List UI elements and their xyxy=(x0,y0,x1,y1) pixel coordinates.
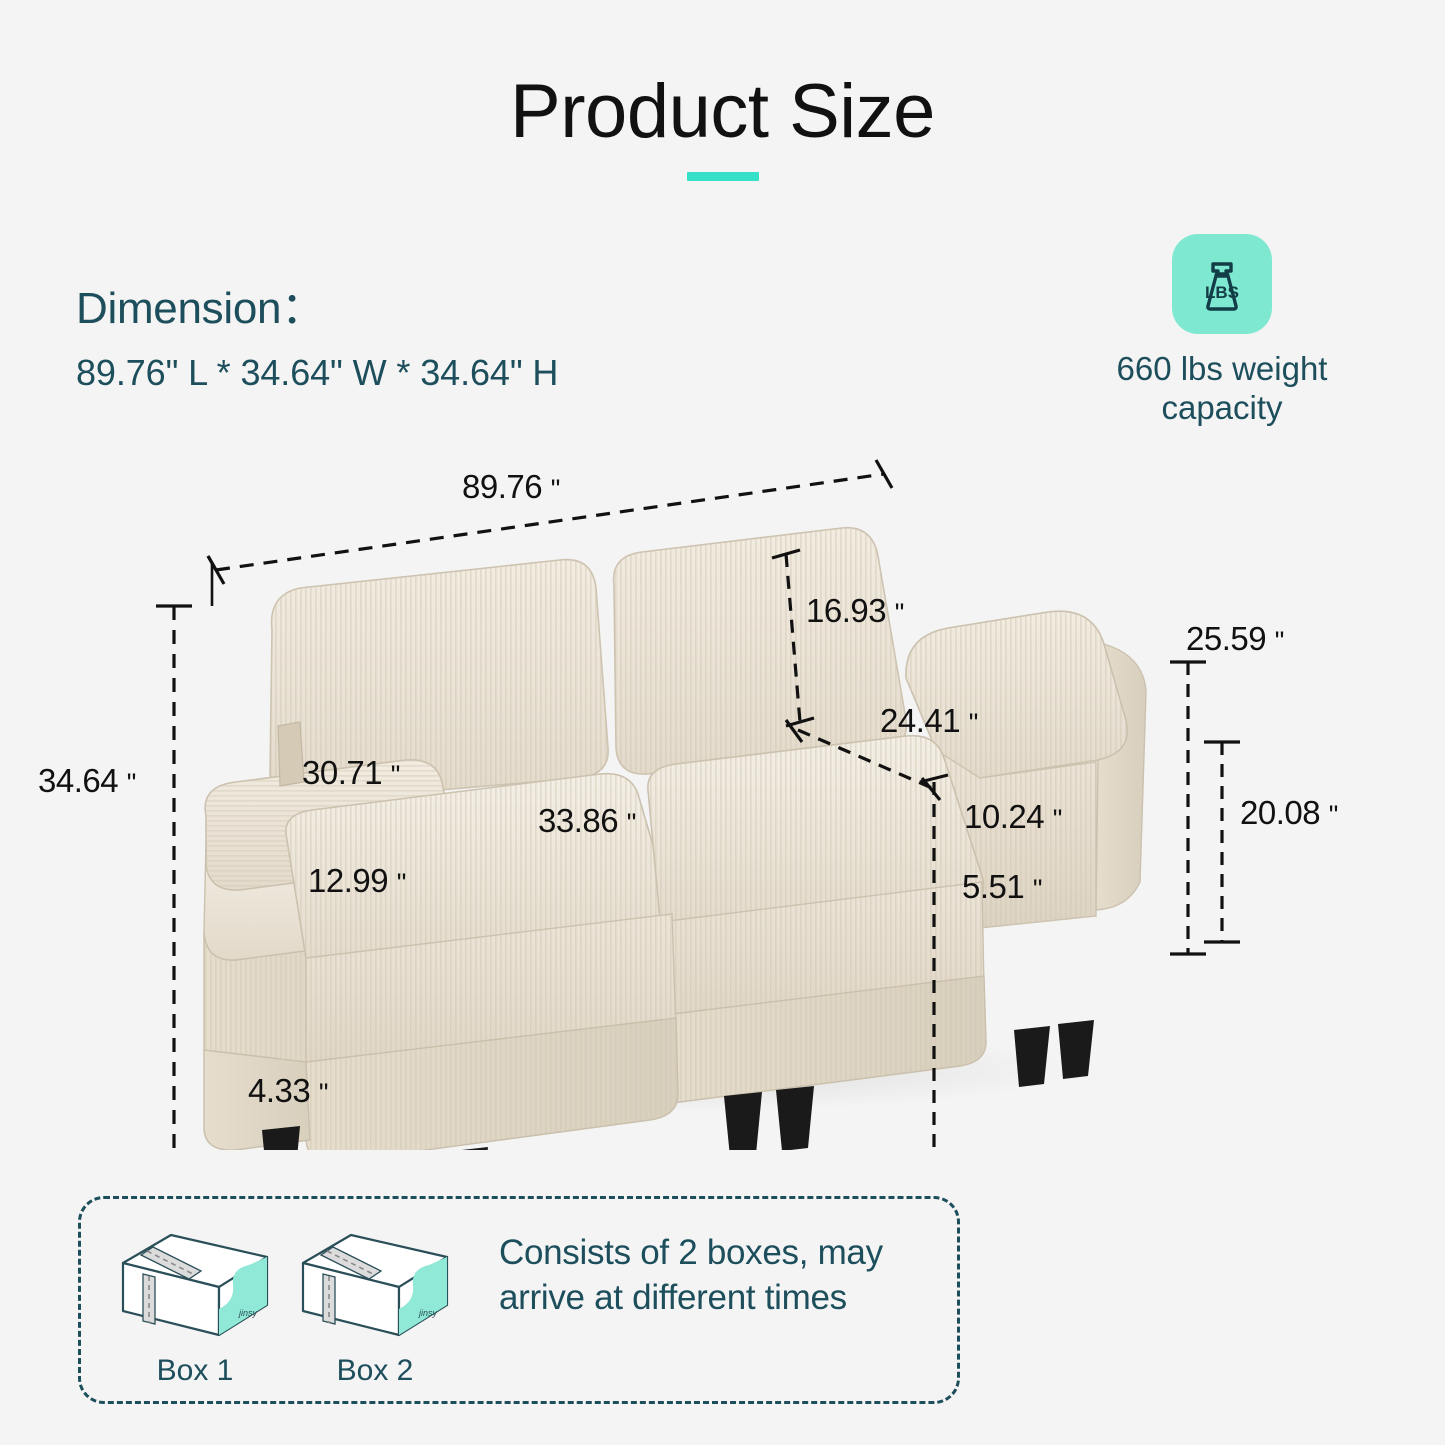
product-size-infographic: Product Size Dimension： 89.76" L * 34.64… xyxy=(0,0,1445,1445)
sofa-drawing xyxy=(0,430,1445,1150)
label-seat-width: 33.86 " xyxy=(538,802,636,840)
label-arm-width: 12.99 " xyxy=(308,862,406,900)
weight-line-1: 660 lbs weight xyxy=(1062,350,1382,389)
box-1-brand: jinsy xyxy=(238,1308,258,1318)
box-2-label: Box 2 xyxy=(289,1354,461,1388)
label-seat-depth: 24.41 " xyxy=(880,702,978,740)
label-leg-height: 4.33 " xyxy=(248,1072,328,1110)
box-item-2: jinsy Box 2 xyxy=(289,1223,461,1388)
back-cushion-right xyxy=(614,528,907,774)
dimension-heading: Dimension： xyxy=(76,272,325,336)
label-overall-height: 34.64 " xyxy=(38,762,136,800)
weight-lbs-icon: LBS xyxy=(1172,234,1272,334)
label-arm-height-outer: 25.59 " xyxy=(1186,620,1284,658)
dimension-value: 89.76" L * 34.64" W * 34.64" H xyxy=(76,352,558,394)
weight-capacity-block: LBS 660 lbs weight capacity xyxy=(1062,234,1382,427)
leg-right-b xyxy=(1058,1020,1094,1079)
label-overall-length: 89.76 " xyxy=(462,468,560,506)
box-2-brand: jinsy xyxy=(418,1308,438,1318)
back-flap xyxy=(278,722,304,786)
leg-left-front xyxy=(444,1147,488,1150)
dimline-arm-height-outer xyxy=(1170,662,1206,954)
box-1-label: Box 1 xyxy=(109,1354,281,1388)
weight-icon-text: LBS xyxy=(1205,283,1239,302)
title-accent-bar xyxy=(687,172,759,181)
box-1-icon: jinsy xyxy=(109,1223,281,1343)
leg-right-a xyxy=(1014,1026,1050,1087)
box-2-icon: jinsy xyxy=(289,1223,461,1343)
weight-line-2: capacity xyxy=(1062,389,1382,428)
label-cushion-height: 10.24 " xyxy=(964,798,1062,836)
label-base-height: 5.51 " xyxy=(962,868,1042,906)
label-arm-top-length: 30.71 " xyxy=(302,754,400,792)
packaging-note: Consists of 2 boxes, may arrive at diffe… xyxy=(499,1231,939,1321)
weight-capacity-text: 660 lbs weight capacity xyxy=(1062,350,1382,427)
packaging-panel: jinsy Box 1 jinsy Box 2 Consists of 2 bo… xyxy=(78,1196,960,1404)
dimline-seat-to-floor xyxy=(1204,742,1240,942)
leg-left-rear xyxy=(262,1126,300,1150)
dimline-overall-height xyxy=(156,606,192,1150)
leg-mid-b xyxy=(776,1086,814,1150)
leg-mid-a xyxy=(724,1092,762,1150)
box-item-1: jinsy Box 1 xyxy=(109,1223,281,1388)
page-title: Product Size xyxy=(0,68,1445,155)
label-seat-to-floor: 20.08 " xyxy=(1240,794,1338,832)
sofa-illustration xyxy=(0,430,1445,1150)
label-back-cushion-height: 16.93 " xyxy=(806,592,904,630)
